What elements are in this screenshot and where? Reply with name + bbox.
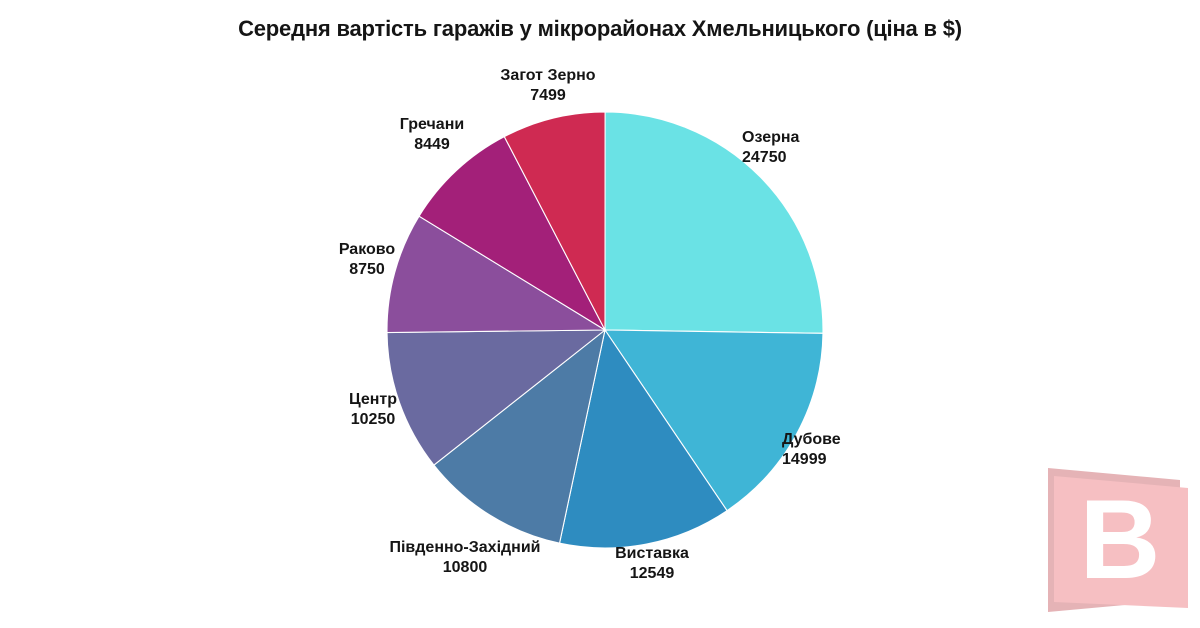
- pie-slice: [605, 112, 823, 333]
- watermark-logo: B: [1040, 450, 1192, 622]
- pie-chart-svg: [0, 0, 1200, 628]
- watermark-letter: B: [1080, 477, 1161, 602]
- pie-chart: Озерна 24750 Дубове 14999 Виставка 12549…: [0, 0, 1200, 628]
- pie-slice-group: [387, 112, 823, 548]
